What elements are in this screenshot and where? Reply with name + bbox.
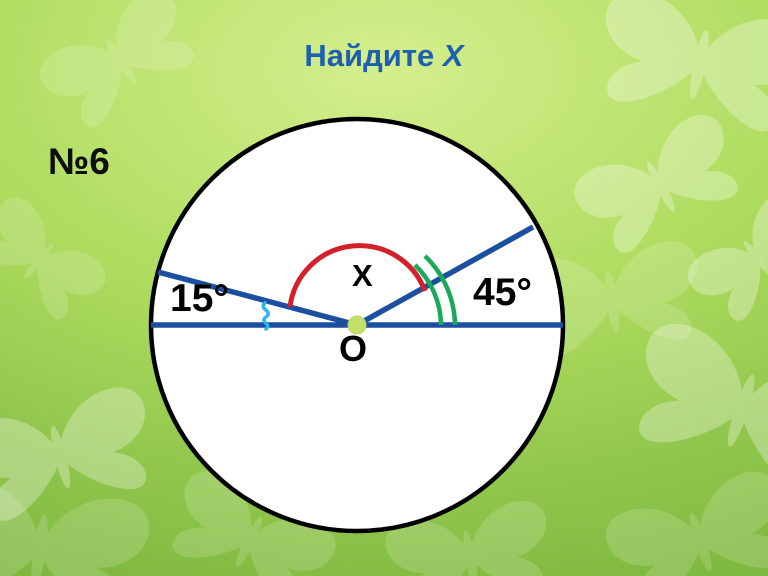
title-prefix: Найдите bbox=[304, 38, 442, 73]
unknown-angle-label: X bbox=[352, 260, 373, 291]
geometry-figure bbox=[0, 0, 768, 576]
title-variable: X bbox=[443, 38, 464, 73]
angle-label-left: 15° bbox=[170, 279, 229, 318]
page-title: Найдите X bbox=[0, 40, 768, 71]
center-point-label: O bbox=[339, 331, 367, 367]
slide-canvas: Найдите X №6 15° 45° X O bbox=[0, 0, 768, 576]
angle-label-right: 45° bbox=[473, 273, 532, 312]
problem-number-label: №6 bbox=[48, 143, 110, 180]
